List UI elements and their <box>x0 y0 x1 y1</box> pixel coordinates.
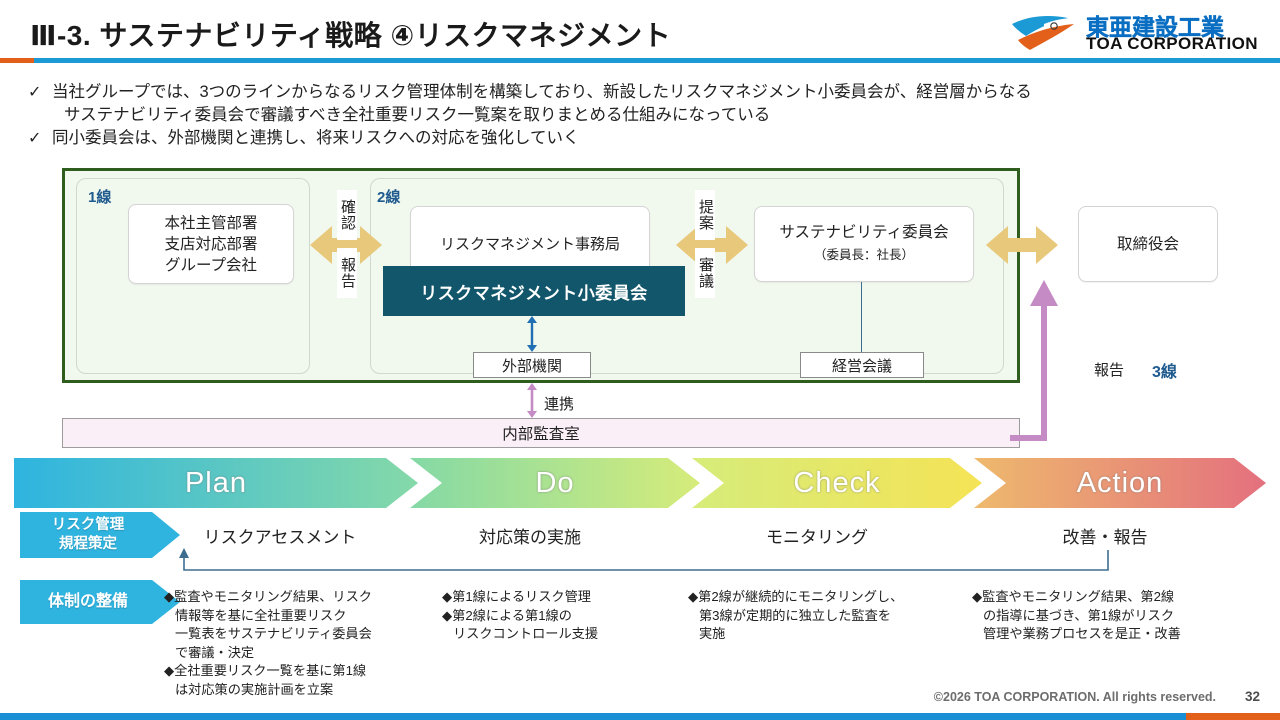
toa-bird-icon <box>1008 10 1084 54</box>
header-accent-orange <box>0 58 34 63</box>
box-board-label: 取締役会 <box>1117 234 1179 255</box>
box-risk-management-subcommittee: リスクマネジメント小委員会 <box>383 266 685 316</box>
detail-plan-line-3: 一覧表をサステナビリティ委員会 <box>164 625 414 644</box>
detail-action-line-2: の指導に基づき、第1線がリスク <box>972 607 1232 626</box>
row-label-risk-management-rules: リスク管理 規程策定 <box>20 512 156 558</box>
box-hq-line-2: 支店対応部署 <box>164 234 257 255</box>
label-third-line-report: 報告 <box>1094 359 1124 380</box>
lead-bullet-1-line-1: 当社グループでは、3つのラインからなるリスク管理体制を構築しており、新設したリス… <box>52 81 1032 104</box>
company-logo: 東亜建設工業 TOA CORPORATION <box>1008 8 1264 54</box>
box-sustain-sub-label: （委員長：社長） <box>814 245 914 266</box>
box-mgmt-meeting-label: 経営会議 <box>832 355 892 376</box>
box-subcommittee-label: リスクマネジメント小委員会 <box>420 279 648 304</box>
row-label-rules-line-1: リスク管理 <box>52 516 125 535</box>
double-arrow-icon-collaboration <box>527 383 537 418</box>
detail-do-line-1: ◆第1線によるリスク管理 <box>442 588 672 607</box>
pdca-stage-plan: Plan <box>14 458 418 508</box>
double-arrow-icon-subcommittee-external <box>527 316 537 352</box>
box-external-label: 外部機関 <box>502 355 562 376</box>
pdca-feedback-loop-arrow <box>178 548 1178 576</box>
pdca-stage-plan-caption: Plan <box>185 467 247 500</box>
row-label-system-development: 体制の整備 <box>20 580 156 624</box>
row-label-rules-line-2: 規程策定 <box>52 535 125 554</box>
pdca-stage-check-caption: Check <box>793 467 880 500</box>
arrow-label-report: 報告 <box>337 248 357 298</box>
detail-column-plan: ◆監査やモニタリング結果、リスク 情報等を基に全社重要リスク 一覧表をサステナビ… <box>164 588 414 699</box>
double-arrow-icon-committee-board <box>986 222 1058 268</box>
detail-action-line-3: 管理や業務プロセスを是正・改善 <box>972 625 1232 644</box>
lead-bullet-1-line-2: サステナビリティ委員会で審議すべき全社重要リスク一覧案を取りまとめる仕組みになっ… <box>64 104 770 127</box>
lead-checkmark-2: ✓ <box>28 128 41 148</box>
header-accent-blue <box>34 58 1280 63</box>
second-line-tag: 2線 <box>377 186 400 207</box>
detail-plan-line-1: ◆監査やモニタリング結果、リスク <box>164 588 414 607</box>
detail-do-line-3: リスクコントロール支援 <box>442 625 672 644</box>
pdca-stage-action-caption: Action <box>1077 467 1164 500</box>
footer-accent-blue <box>0 713 1186 720</box>
pdca-stage-action: Action <box>974 458 1266 508</box>
arrow-label-confirmation: 確認 <box>337 190 357 240</box>
box-sustainability-committee: サステナビリティ委員会 （委員長：社長） <box>754 206 974 282</box>
lead-checkmark-1: ✓ <box>28 82 41 102</box>
box-hq-line-3: グループ会社 <box>165 255 257 276</box>
detail-check-line-1: ◆第2線が継続的にモニタリングし、 <box>688 588 948 607</box>
row-label-system-text: 体制の整備 <box>48 593 128 611</box>
pdca-item-plan: リスクアセスメント <box>175 523 385 548</box>
detail-column-do: ◆第1線によるリスク管理 ◆第2線による第1線の リスクコントロール支援 <box>442 588 672 644</box>
pdca-chevron-band: Plan Do Check Action <box>14 458 1266 508</box>
detail-do-line-2: ◆第2線による第1線の <box>442 607 672 626</box>
box-hq-line-1: 本社主管部署 <box>164 213 257 234</box>
box-headquarters-departments: 本社主管部署 支店対応部署 グループ会社 <box>128 204 294 284</box>
detail-column-check: ◆第2線が継続的にモニタリングし、 第3線が定期的に独立した監査を 実施 <box>688 588 948 644</box>
first-line-tag: 1線 <box>88 186 111 207</box>
pdca-stage-do: Do <box>410 458 700 508</box>
pdca-item-do: 対応策の実施 <box>425 523 635 548</box>
detail-action-line-1: ◆監査やモニタリング結果、第2線 <box>972 588 1232 607</box>
page-title: Ⅲ-3. サステナビリティ戦略 ④リスクマネジメント <box>30 14 671 54</box>
detail-plan-line-6: は対応策の実施計画を立案 <box>164 681 414 700</box>
detail-check-line-3: 実施 <box>688 625 948 644</box>
detail-plan-line-2: 情報等を基に全社重要リスク <box>164 607 414 626</box>
box-audit-label: 内部監査室 <box>502 422 580 444</box>
third-line-tag: 3線 <box>1152 358 1177 382</box>
box-internal-audit-office: 内部監査室 <box>62 418 1020 448</box>
arrow-label-proposal: 提案 <box>695 190 715 240</box>
detail-plan-line-4: で審議・決定 <box>164 644 414 663</box>
detail-column-action: ◆監査やモニタリング結果、第2線 の指導に基づき、第1線がリスク 管理や業務プロ… <box>972 588 1232 644</box>
logo-english-name: TOA CORPORATION <box>1086 34 1258 54</box>
connector-sustainability-to-management-meeting <box>861 282 862 352</box>
footer-accent-orange <box>1186 713 1280 720</box>
detail-check-line-2: 第3線が定期的に独立した監査を <box>688 607 948 626</box>
label-collaboration: 連携 <box>544 393 574 414</box>
box-board-of-directors: 取締役会 <box>1078 206 1218 282</box>
pdca-stage-do-caption: Do <box>535 467 574 500</box>
box-sustain-main-label: サステナビリティ委員会 <box>779 222 948 243</box>
footer-copyright: ©2026 TOA CORPORATION. All rights reserv… <box>934 690 1216 704</box>
arrow-label-deliberation: 審議 <box>695 248 715 298</box>
detail-plan-line-5: ◆全社重要リスク一覧を基に第1線 <box>164 662 414 681</box>
box-management-meeting: 経営会議 <box>800 352 924 378</box>
pdca-item-action: 改善・報告 <box>1000 523 1210 548</box>
lead-bullet-2-line-1: 同小委員会は、外部機関と連携し、将来リスクへの対応を強化していく <box>52 127 580 150</box>
footer-page-number: 32 <box>1245 689 1260 704</box>
pdca-stage-check: Check <box>692 458 982 508</box>
pdca-item-check: モニタリング <box>712 523 922 548</box>
box-external-institution: 外部機関 <box>473 352 591 378</box>
box-rm-office-label: リスクマネジメント事務局 <box>440 234 620 255</box>
